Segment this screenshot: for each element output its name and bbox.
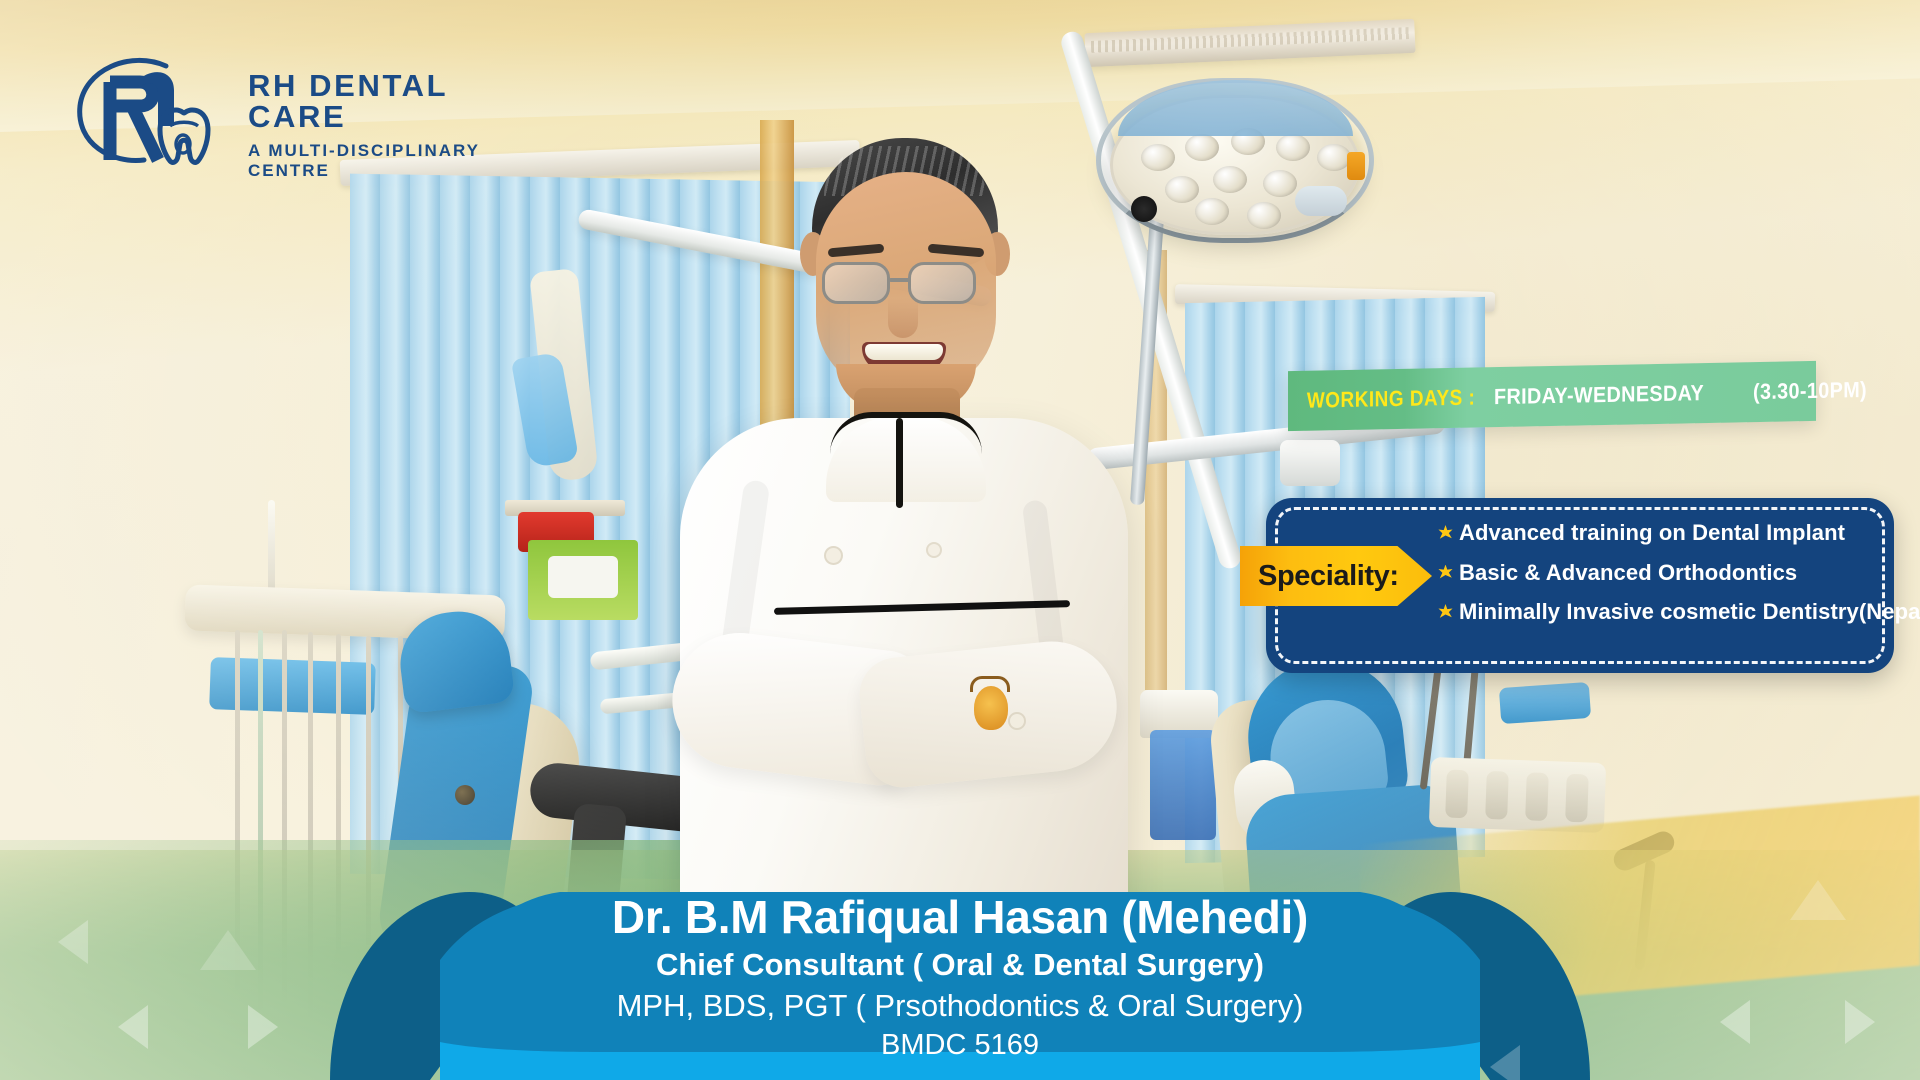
triangle-up-icon [200,930,256,970]
brand-logo-text: RH DENTAL CARE A MULTI-DISCIPLINARY CENT… [248,70,540,181]
triangle-left-icon [1490,1045,1520,1080]
doctor-name-banner: Dr. B.M Rafiqual Hasan (Mehedi) Chief Co… [0,780,1920,1080]
rh-tooth-logo-icon [70,48,240,166]
doctor-role: Chief Consultant ( Oral & Dental Surgery… [0,945,1920,984]
doctor-name: Dr. B.M Rafiqual Hasan (Mehedi) [0,892,1920,944]
speciality-item-label: Advanced training on Dental Implant [1459,520,1845,546]
speciality-item-label: Basic & Advanced Orthodontics [1459,560,1797,586]
doctor-degrees: MPH, BDS, PGT ( Prsothodontics & Oral Su… [0,986,1920,1025]
speciality-item: Advanced training on Dental Implant [1438,520,1868,546]
speciality-item: Basic & Advanced Orthodontics [1438,560,1868,586]
brand-title: RH DENTAL CARE [248,70,540,132]
triangle-left-icon [58,920,88,964]
working-days-value: FRIDAY-WEDNESDAY [1494,380,1704,410]
doctor-registration: BMDC 5169 [0,1027,1920,1064]
brand-subtitle: A MULTI-DISCIPLINARY CENTRE [248,141,540,181]
dental-clinic-poster: RH DENTAL CARE A MULTI-DISCIPLINARY CENT… [0,0,1920,1080]
doctor-credentials: Dr. B.M Rafiqual Hasan (Mehedi) Chief Co… [0,892,1920,1070]
doctor-eyeglass-left [822,262,890,304]
triangle-up-icon [1790,880,1846,920]
coat-button [826,548,841,563]
speciality-tag-label: Speciality: [1240,560,1399,593]
speciality-list: Advanced training on Dental Implant Basi… [1438,520,1868,625]
speciality-item-label: Minimally Invasive cosmetic Dentistry(Ne… [1459,599,1920,625]
working-hours-value: (3.30-10PM) [1753,377,1867,405]
triangle-right-icon [1845,1000,1875,1044]
doctor-badge [974,686,1008,730]
working-days-label: WORKING DAYS : [1288,384,1489,414]
triangle-left-icon [118,1005,148,1049]
coat-button [928,544,940,556]
coat-button [1010,714,1024,728]
star-bullet-icon [1438,604,1453,619]
doctor-nose [888,298,918,338]
doctor-eyeglass-bridge [889,278,911,282]
doctor-teeth [865,344,943,360]
doctor-collar-placket [896,418,903,508]
star-bullet-icon [1438,565,1453,580]
brand-logo[interactable]: RH DENTAL CARE A MULTI-DISCIPLINARY CENT… [70,48,540,166]
triangle-right-icon [248,1005,278,1049]
doctor-collar-trim [830,412,982,454]
triangle-left-icon [1720,1000,1750,1044]
working-days-banner: WORKING DAYS : FRIDAY-WEDNESDAY (3.30-10… [1288,361,1816,431]
doctor-eyeglass-right [908,262,976,304]
speciality-item: Minimally Invasive cosmetic Dentistry(Ne… [1438,599,1868,625]
speciality-tag: Speciality: [1240,546,1432,606]
star-bullet-icon [1438,525,1453,540]
